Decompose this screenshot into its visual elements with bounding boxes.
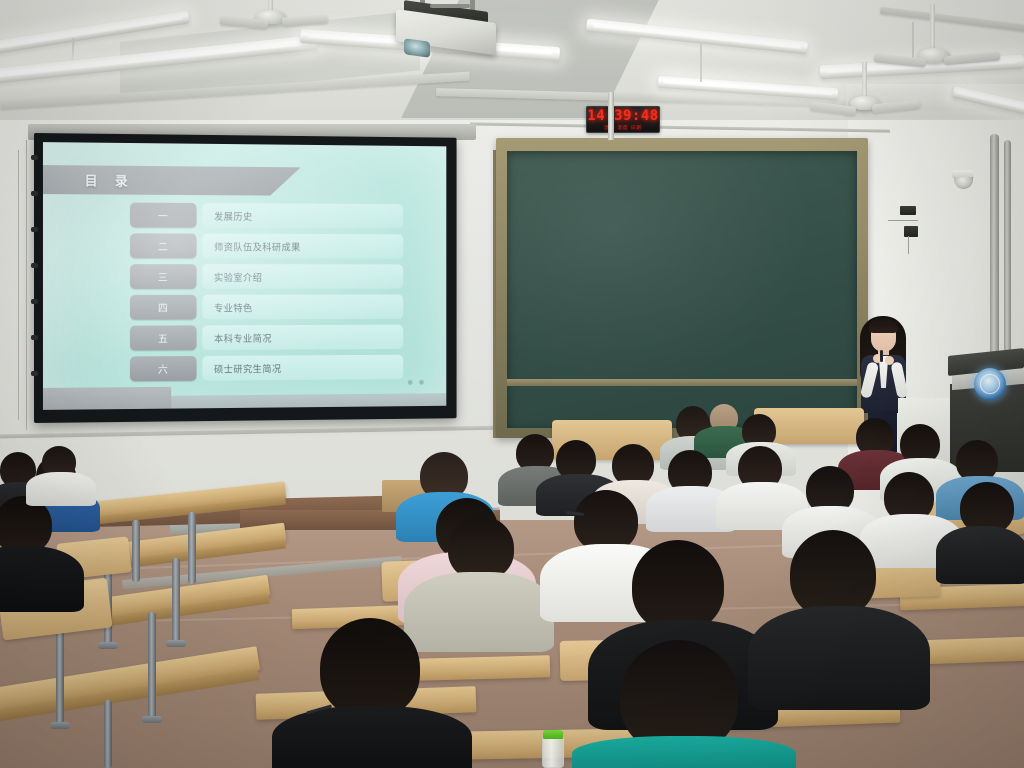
toc-number: 六	[130, 356, 196, 381]
toc-label: 硕士研究生简况	[202, 355, 403, 381]
slide-header-banner: 目 录	[43, 165, 301, 196]
clock-time: 14:39:48	[587, 109, 658, 123]
lecture-hall-scene: 14:39:48 温度 湿度 日期 目 录 一 发展历史	[0, 0, 1024, 768]
projection-screen: 目 录 一 发展历史 二 师资队伍及科研成果 三 实验室介绍 四 专业特色	[34, 133, 457, 423]
slide-footer-bar	[43, 387, 171, 410]
university-emblem-icon	[974, 368, 1006, 400]
bottle-cap	[543, 730, 563, 739]
table-of-contents: 一 发展历史 二 师资队伍及科研成果 三 实验室介绍 四 专业特色 五	[130, 203, 403, 388]
slide-marks	[408, 380, 424, 385]
toc-number: 四	[130, 295, 196, 320]
toc-item[interactable]: 六 硕士研究生简况	[130, 355, 403, 381]
microphone	[880, 350, 883, 362]
digital-wall-clock: 14:39:48 温度 湿度 日期	[586, 106, 660, 133]
toc-label: 专业特色	[202, 295, 403, 320]
toc-label: 师资队伍及科研成果	[202, 234, 403, 259]
toc-label: 实验室介绍	[202, 264, 403, 289]
toc-item[interactable]: 二 师资队伍及科研成果	[130, 233, 403, 258]
toc-number: 三	[130, 264, 196, 289]
toc-label: 本科专业简况	[202, 325, 403, 350]
chalkboard	[496, 138, 868, 438]
toc-number: 一	[130, 203, 196, 228]
toc-label: 发展历史	[202, 203, 403, 228]
water-bottle	[542, 736, 564, 768]
toc-number: 五	[130, 325, 196, 350]
support-pole	[608, 92, 614, 140]
toc-item[interactable]: 四 专业特色	[130, 295, 403, 320]
slide-title: 目 录	[85, 170, 135, 189]
toc-number: 二	[130, 233, 196, 258]
toc-item[interactable]: 一 发展历史	[130, 203, 403, 229]
toc-item[interactable]: 五 本科专业简况	[130, 325, 403, 351]
toc-item[interactable]: 三 实验室介绍	[130, 264, 403, 289]
presentation-slide: 目 录 一 发展历史 二 师资队伍及科研成果 三 实验室介绍 四 专业特色	[43, 142, 446, 410]
